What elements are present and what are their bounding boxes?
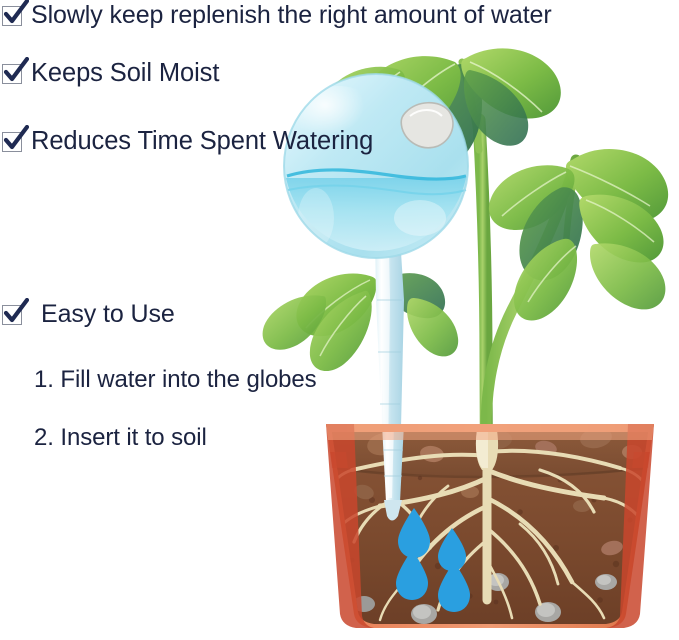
usage-step-2: 2. Insert it to soil [34,424,207,452]
feature-item-4: Easy to Use [2,301,175,327]
water-droplets [396,508,470,612]
feature-label: Easy to Use [41,301,175,327]
feature-item-1: Slowly keep replenish the right amount o… [2,2,552,28]
feature-label: Reduces Time Spent Watering [31,128,373,155]
feature-label: Keeps Soil Moist [31,60,219,87]
feature-label: Slowly keep replenish the right amount o… [31,2,552,28]
globe-cap [401,103,453,148]
pot-soil-cutaway [330,424,650,634]
globe-sphere [284,74,468,258]
feature-item-2: Keeps Soil Moist [2,60,219,87]
checkbox-checked-icon[interactable] [2,6,24,28]
checkbox-checked-icon[interactable] [2,132,24,154]
product-feature-graphic: Slowly keep replenish the right amount o… [0,0,679,640]
flower-pot [326,424,654,634]
globe-tube [375,236,404,470]
check-mark-icon [1,0,29,27]
check-mark-icon [1,125,29,153]
pot-body [326,424,654,628]
plant-stems [462,62,576,612]
soil-stones [353,573,617,624]
checkbox-checked-icon[interactable] [2,64,24,86]
feature-item-3: Reduces Time Spent Watering [2,128,373,155]
check-mark-icon [1,298,29,326]
root-system [332,432,648,620]
checkbox-checked-icon[interactable] [2,305,24,327]
check-mark-icon [1,57,29,85]
plant-leaves [263,48,669,371]
usage-step-1: 1. Fill water into the globes [34,366,317,394]
soil-pebbles [352,425,642,557]
